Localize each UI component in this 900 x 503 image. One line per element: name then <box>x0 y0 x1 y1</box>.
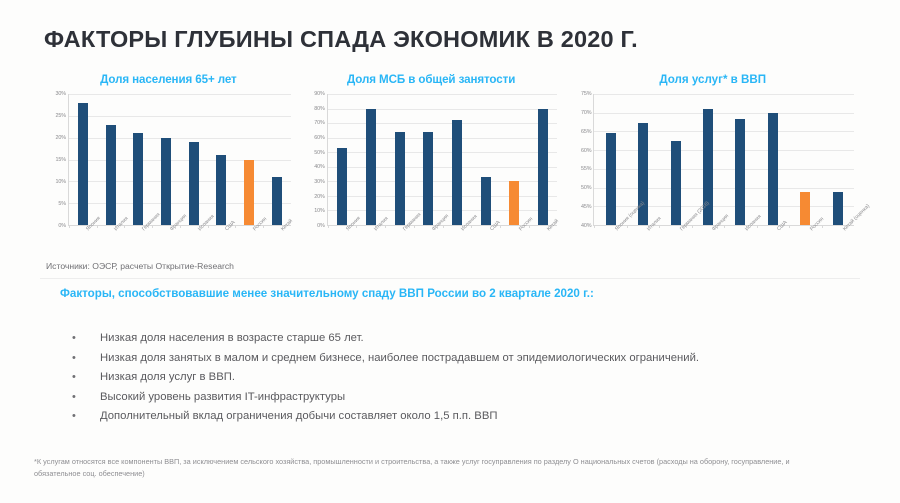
bar <box>606 133 616 225</box>
bar-slot <box>471 94 500 225</box>
bullet-marker-icon: • <box>72 350 100 366</box>
conclusion-bullet-list: •Низкая доля населения в возрасте старше… <box>72 330 862 428</box>
y-tick-label: 25% <box>56 113 67 119</box>
bar <box>133 133 143 225</box>
bar-slot <box>500 94 529 225</box>
bullet-marker-icon: • <box>72 408 100 424</box>
y-tick-label: 90% <box>314 91 325 97</box>
y-axis-chart1: 0%5%10%15%20%25%30% <box>44 94 68 226</box>
bar <box>272 177 282 225</box>
footnote: *К услугам относятся все компоненты ВВП,… <box>34 456 824 479</box>
bar-slot <box>124 94 152 225</box>
y-tick-label: 45% <box>581 204 592 210</box>
x-axis-labels-chart1: ЯпонияИталияГерманияФранцияИспанияСШАРос… <box>68 228 291 262</box>
y-tick-label: 60% <box>314 135 325 141</box>
bar <box>768 113 778 225</box>
y-tick-label: 15% <box>56 157 67 163</box>
bar <box>538 109 548 225</box>
bar-slot <box>263 94 291 225</box>
plot-area-chart2 <box>327 94 558 226</box>
y-tick-label: 55% <box>581 166 592 172</box>
bar-slot <box>235 94 263 225</box>
y-tick-label: 20% <box>314 194 325 200</box>
list-item-text: Низкая доля услуг в ВВП. <box>100 369 235 386</box>
list-item: •Низкая доля населения в возрасте старше… <box>72 330 862 347</box>
slide-canvas: ФАКТОРЫ ГЛУБИНЫ СПАДА ЭКОНОМИК В 2020 Г.… <box>0 0 900 503</box>
bar-slot <box>180 94 208 225</box>
bar <box>833 192 843 225</box>
y-tick-label: 0% <box>58 223 66 229</box>
y-tick-label: 50% <box>314 150 325 156</box>
bars-chart1 <box>69 94 291 225</box>
list-item-text: Высокий уровень развития IT-инфраструкту… <box>100 389 345 406</box>
list-item-text: Низкая доля населения в возрасте старше … <box>100 330 364 347</box>
bar-slot <box>152 94 180 225</box>
chart-title: Доля населения 65+ лет <box>44 72 293 88</box>
y-tick-label: 50% <box>581 185 592 191</box>
bar <box>337 148 347 225</box>
y-tick-label: 40% <box>581 223 592 229</box>
list-item-text: Дополнительный вклад ограничения добычи … <box>100 408 497 425</box>
y-tick-label: 20% <box>56 135 67 141</box>
bar-slot <box>822 94 854 225</box>
bar-slot <box>724 94 756 225</box>
chart-population-65plus: Доля населения 65+ лет 0%5%10%15%20%25%3… <box>44 72 293 262</box>
plot-area-chart3 <box>593 94 854 226</box>
bar <box>481 177 491 225</box>
bar-slot <box>594 94 626 225</box>
charts-row: Доля населения 65+ лет 0%5%10%15%20%25%3… <box>44 72 856 262</box>
y-tick-label: 30% <box>314 179 325 185</box>
bar-slot <box>659 94 691 225</box>
conclusion-heading: Факторы, способствовавшие менее значител… <box>60 287 594 300</box>
bar <box>395 132 405 225</box>
bar <box>244 160 254 226</box>
bar <box>509 181 519 225</box>
bar <box>366 109 376 225</box>
bar-slot <box>443 94 472 225</box>
list-item: •Высокий уровень развития IT-инфраструкт… <box>72 389 862 406</box>
bars-chart3 <box>594 94 854 225</box>
bar <box>800 192 810 225</box>
bar <box>78 103 88 225</box>
y-tick-label: 5% <box>58 201 66 207</box>
y-tick-label: 0% <box>317 223 325 229</box>
y-tick-label: 60% <box>581 148 592 154</box>
x-axis-labels-chart3: Япония (оценка)ИталияГермания (2018)Фран… <box>593 228 854 262</box>
bar <box>735 119 745 225</box>
y-axis-chart3: 40%45%50%55%60%65%70%75% <box>569 94 593 226</box>
bar <box>106 125 116 225</box>
y-axis-chart2: 0%10%20%30%40%50%60%70%80%90% <box>303 94 327 226</box>
bar-slot <box>69 94 97 225</box>
chart-title: Доля МСБ в общей занятости <box>303 72 560 88</box>
bar <box>216 155 226 225</box>
y-tick-label: 10% <box>56 179 67 185</box>
chart-sme-employment: Доля МСБ в общей занятости 0%10%20%30%40… <box>303 72 560 262</box>
list-item: •Низкая доля услуг в ВВП. <box>72 369 862 386</box>
bars-chart2 <box>328 94 558 225</box>
bar-slot <box>385 94 414 225</box>
bar <box>671 141 681 225</box>
chart-services-gdp: Доля услуг* в ВВП 40%45%50%55%60%65%70%7… <box>569 72 856 262</box>
bar-slot <box>529 94 558 225</box>
bar-slot <box>414 94 443 225</box>
chart-title: Доля услуг* в ВВП <box>569 72 856 88</box>
y-tick-label: 65% <box>581 129 592 135</box>
x-axis-labels-chart2: ЯпонияИталияГерманияФранцияИспанияСШАРос… <box>327 228 558 262</box>
y-tick-label: 80% <box>314 106 325 112</box>
bar-slot <box>208 94 236 225</box>
y-tick-label: 70% <box>314 120 325 126</box>
bar <box>423 132 433 225</box>
bar-slot <box>789 94 821 225</box>
list-item: •Дополнительный вклад ограничения добычи… <box>72 408 862 425</box>
y-tick-label: 75% <box>581 91 592 97</box>
y-tick-label: 30% <box>56 91 67 97</box>
bullet-marker-icon: • <box>72 330 100 346</box>
section-divider <box>40 278 860 279</box>
page-title: ФАКТОРЫ ГЛУБИНЫ СПАДА ЭКОНОМИК В 2020 Г. <box>44 26 638 53</box>
bar-slot <box>757 94 789 225</box>
bar-slot <box>97 94 125 225</box>
y-tick-label: 70% <box>581 110 592 116</box>
bar-slot <box>356 94 385 225</box>
bar <box>452 120 462 225</box>
bar-slot <box>328 94 357 225</box>
bullet-marker-icon: • <box>72 389 100 405</box>
bar <box>189 142 199 225</box>
bar <box>161 138 171 225</box>
bullet-marker-icon: • <box>72 369 100 385</box>
sources-note: Источники: ОЭСР, расчеты Открытие-Resear… <box>46 261 234 271</box>
plot-area-chart1 <box>68 94 291 226</box>
y-tick-label: 40% <box>314 164 325 170</box>
list-item-text: Низкая доля занятых в малом и среднем би… <box>100 350 699 367</box>
list-item: •Низкая доля занятых в малом и среднем б… <box>72 350 862 367</box>
y-tick-label: 10% <box>314 208 325 214</box>
